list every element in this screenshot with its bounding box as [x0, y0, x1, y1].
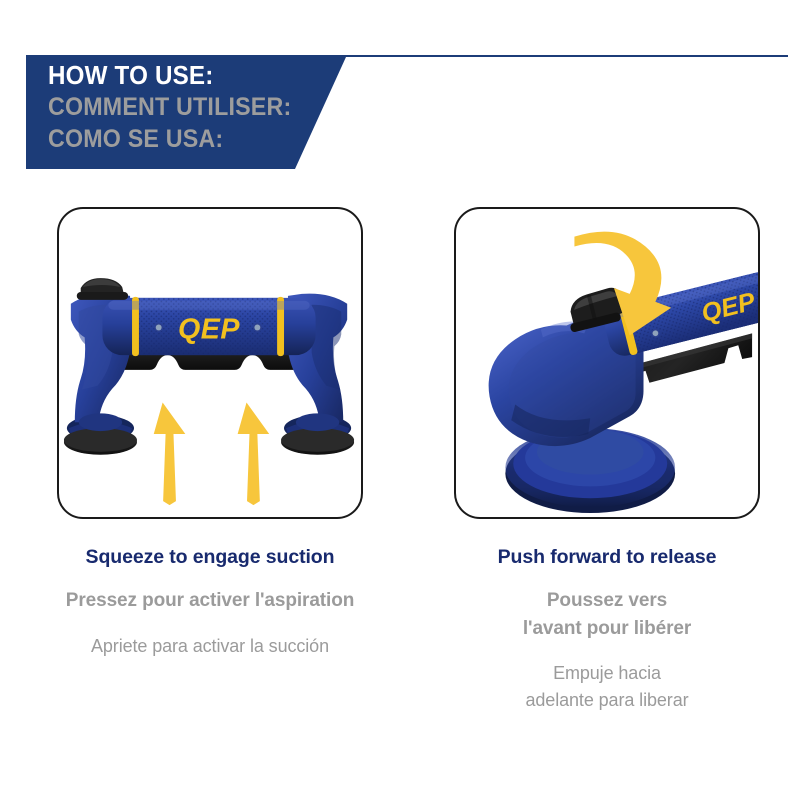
instruction-panel-squeeze: QEP Squeeze to engage suction Pressez po…	[57, 207, 363, 660]
caption-fr-line: Poussez vers	[454, 587, 760, 615]
header-title-group: HOW TO USE: COMMENT UTILISER: COMO SE US…	[48, 62, 348, 152]
arrow-up-left	[154, 402, 186, 505]
header-title-fr: COMMENT UTILISER:	[48, 95, 327, 120]
caption-fr-line: Pressez pour activer l'aspiration	[57, 587, 363, 615]
caption-en-release: Push forward to release	[454, 545, 760, 569]
product-photo-frame-squeeze: QEP	[57, 207, 363, 519]
tool-handle: QEP	[102, 297, 315, 356]
caption-fr-release: Poussez vers l'avant pour libérer	[454, 587, 760, 642]
arrow-up-right	[238, 402, 270, 505]
caption-block-squeeze: Squeeze to engage suction Pressez pour a…	[57, 519, 363, 660]
caption-en-squeeze: Squeeze to engage suction	[57, 545, 363, 569]
caption-block-release: Push forward to release Poussez vers l'a…	[454, 519, 760, 714]
product-photo-frame-release: QEP	[454, 207, 760, 519]
qep-logo-text: QEP	[178, 313, 240, 345]
suction-cup-tool-front-illustration: QEP	[59, 209, 361, 517]
caption-es-release: Empuje hacia adelante para liberar	[454, 660, 760, 714]
release-lever-button	[77, 278, 128, 300]
caption-fr-line: l'avant pour libérer	[454, 615, 760, 643]
instruction-panel-release: QEP Push forward to release Poussez vers…	[454, 207, 760, 714]
header-band: HOW TO USE: COMMENT UTILISER: COMO SE US…	[0, 0, 800, 180]
caption-es-squeeze: Apriete para activar la succión	[57, 633, 363, 660]
caption-es-line: adelante para liberar	[454, 687, 760, 714]
caption-es-line: Apriete para activar la succión	[57, 633, 363, 660]
caption-fr-squeeze: Pressez pour activer l'aspiration	[57, 587, 363, 615]
caption-es-line: Empuje hacia	[454, 660, 760, 687]
header-title-es: COMO SE USA:	[48, 127, 327, 152]
suction-cup-tool-angled-illustration: QEP	[456, 209, 758, 517]
header-title-en: HOW TO USE:	[48, 62, 327, 88]
